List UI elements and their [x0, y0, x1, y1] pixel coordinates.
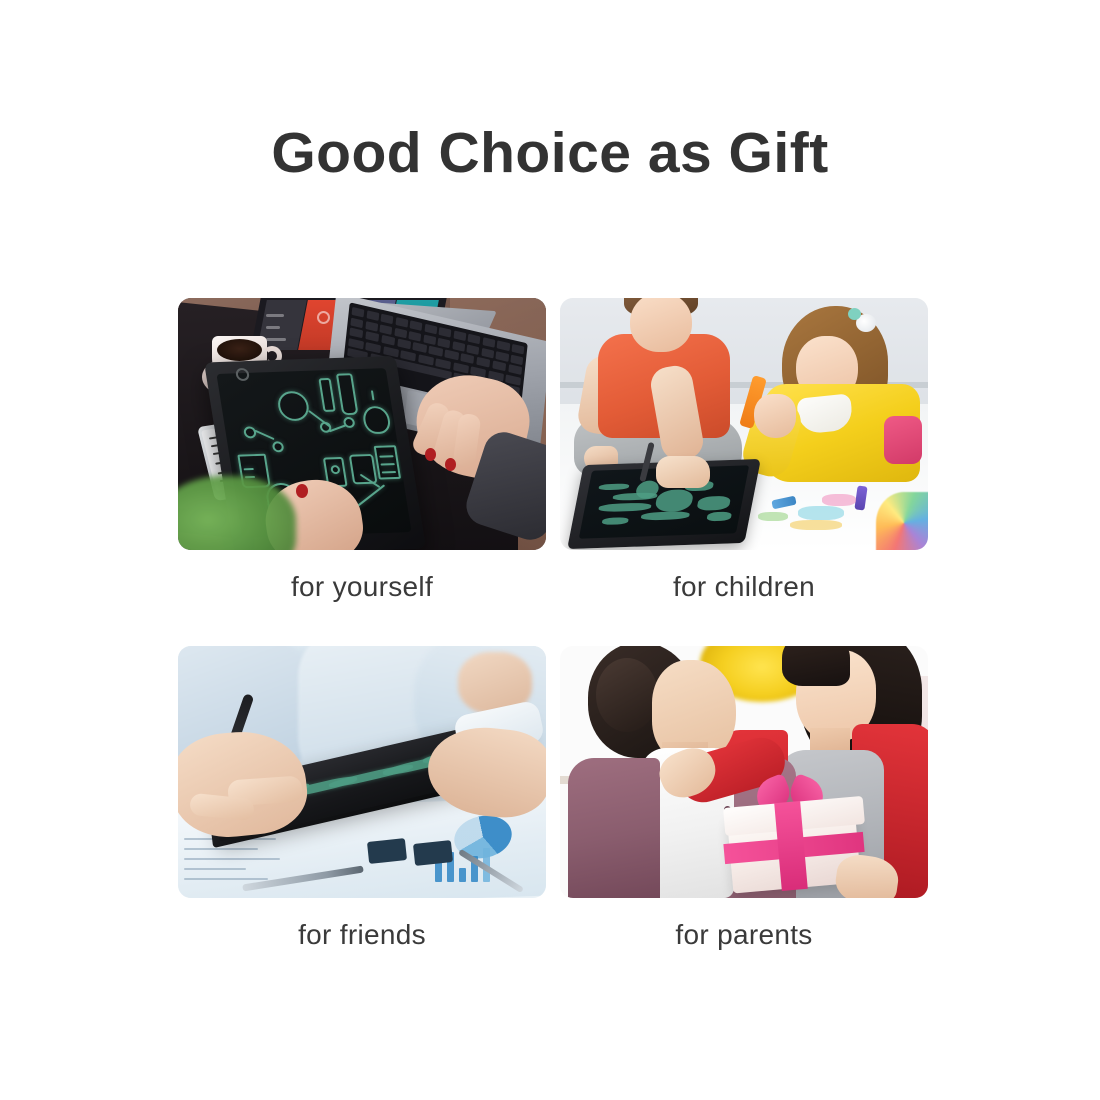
caption-for-yourself: for yourself: [178, 550, 546, 646]
doc-line-5: [184, 878, 268, 880]
caption-for-friends: for friends: [178, 898, 546, 951]
boy-hand: [656, 456, 710, 488]
monitor-line-3: [266, 338, 286, 341]
gallery-grid: for yourself: [178, 298, 928, 951]
gallery-item-for-parents[interactable]: for parents: [560, 646, 928, 951]
doc-line-4: [184, 868, 246, 870]
monitor-line-1: [266, 314, 284, 317]
child-drawing-1: [798, 506, 844, 520]
doc-line-3: [184, 858, 280, 860]
photo-for-children: [560, 298, 928, 550]
promo-page: Good Choice as Gift: [0, 0, 1100, 1100]
gallery-item-for-friends[interactable]: for friends: [178, 646, 546, 951]
monitor-line-2: [266, 326, 280, 329]
daughter-fringe: [782, 646, 850, 686]
photo-for-parents: [560, 646, 928, 898]
rainbow-object: [876, 492, 928, 550]
caption-for-parents: for parents: [560, 898, 928, 951]
coffee-liquid: [217, 339, 262, 361]
girl-hand: [754, 394, 796, 438]
gallery-item-for-yourself[interactable]: for yourself: [178, 298, 546, 646]
nail-2: [445, 458, 456, 471]
mother-cardigan-left: [568, 758, 660, 898]
child-drawing-3: [790, 520, 842, 530]
doc-tag-1: [367, 838, 407, 864]
boy-head: [630, 298, 692, 352]
child-drawing-4: [758, 512, 788, 521]
doc-line-2: [184, 848, 258, 850]
nail-3: [296, 484, 308, 498]
photo-for-friends: [178, 646, 546, 898]
bar-1: [435, 862, 442, 882]
child-drawing-2: [822, 494, 856, 506]
doc-tag-2: [413, 840, 453, 866]
monitor-icon-2: [317, 311, 330, 324]
caption-for-children: for children: [560, 550, 928, 646]
girl-hair-clip-bead: [848, 308, 861, 320]
bar-3: [459, 868, 466, 882]
page-title: Good Choice as Gift: [0, 124, 1100, 184]
girl-pink-garment: [884, 416, 922, 464]
nail-1: [425, 448, 436, 461]
photo-for-yourself: [178, 298, 546, 550]
mother-hair-bun: [596, 658, 658, 732]
gallery-item-for-children[interactable]: for children: [560, 298, 928, 646]
